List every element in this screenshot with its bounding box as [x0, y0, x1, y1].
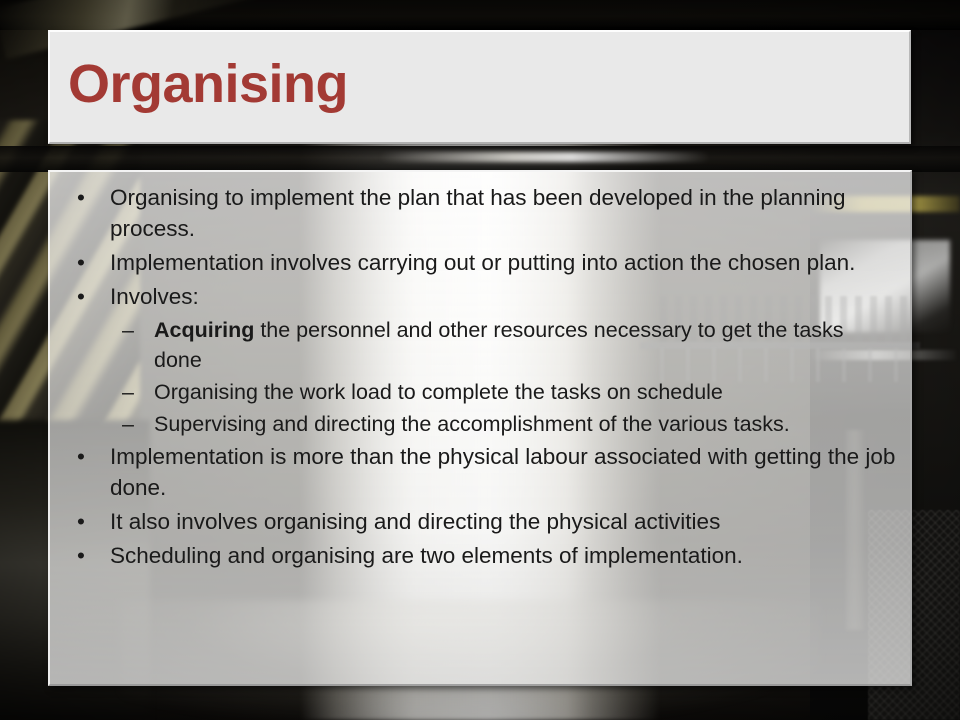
- presentation-slide: Organising • Organising to implement the…: [0, 0, 960, 720]
- bullet-item: • Involves:: [64, 281, 896, 312]
- bullet-list: • Organising to implement the plan that …: [64, 182, 896, 571]
- bullet-item: • Implementation involves carrying out o…: [64, 247, 896, 278]
- sub-bullet-item: – Supervising and directing the accompli…: [64, 409, 896, 439]
- bullet-text: Organising to implement the plan that ha…: [110, 185, 846, 241]
- bullet-marker-icon: •: [77, 182, 85, 213]
- dash-marker-icon: –: [122, 377, 134, 407]
- bullet-item: • Scheduling and organising are two elem…: [64, 540, 896, 571]
- sub-bullet-text: the personnel and other resources necess…: [154, 318, 844, 372]
- sub-bullet-text: Supervising and directing the accomplish…: [154, 412, 790, 436]
- bullet-text: Scheduling and organising are two elemen…: [110, 543, 743, 568]
- sub-bullet-item: – Organising the work load to complete t…: [64, 377, 896, 407]
- bullet-item: • Implementation is more than the physic…: [64, 441, 896, 503]
- dash-marker-icon: –: [122, 315, 134, 345]
- slide-title: Organising: [50, 57, 348, 117]
- bullet-item: • Organising to implement the plan that …: [64, 182, 896, 244]
- bullet-marker-icon: •: [77, 540, 85, 571]
- sub-bullet-lead-bold: Acquiring: [154, 318, 254, 342]
- bullet-marker-icon: •: [77, 247, 85, 278]
- bullet-item: • It also involves organising and direct…: [64, 506, 896, 537]
- dash-marker-icon: –: [122, 409, 134, 439]
- bullet-text: It also involves organising and directin…: [110, 509, 720, 534]
- content-panel: • Organising to implement the plan that …: [48, 170, 912, 686]
- bullet-text: Implementation is more than the physical…: [110, 444, 895, 500]
- bullet-marker-icon: •: [77, 441, 85, 472]
- title-panel: Organising: [48, 30, 911, 144]
- bullet-marker-icon: •: [77, 506, 85, 537]
- sub-bullet-item: – Acquiring the personnel and other reso…: [64, 315, 896, 375]
- bullet-text: Implementation involves carrying out or …: [110, 250, 855, 275]
- bullet-marker-icon: •: [77, 281, 85, 312]
- sub-bullet-text: Organising the work load to complete the…: [154, 380, 723, 404]
- bullet-text: Involves:: [110, 284, 199, 309]
